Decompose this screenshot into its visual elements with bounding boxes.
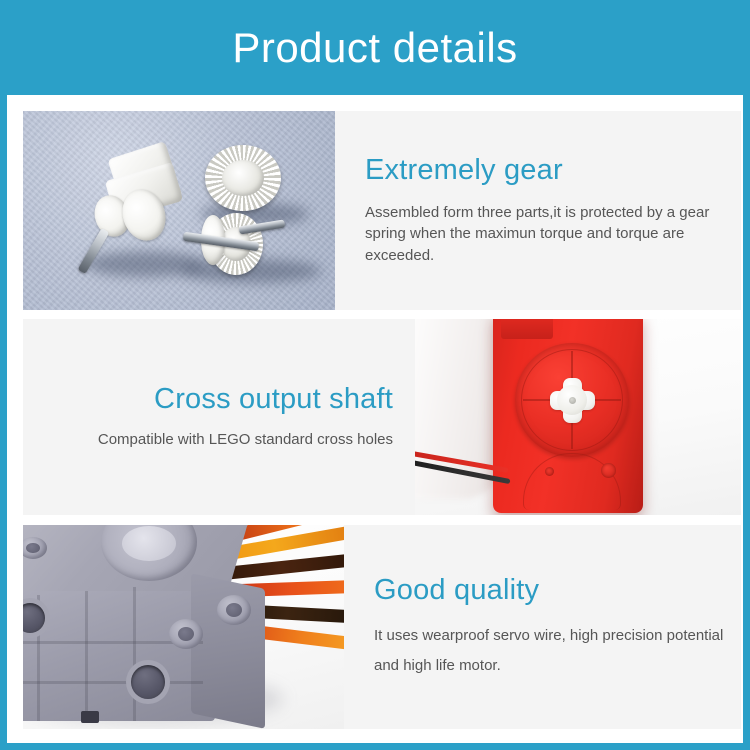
feature-description: It uses wearproof servo wire, high preci… xyxy=(374,621,727,680)
feature-blocks: Extremely gear Assembled form three part… xyxy=(14,102,750,750)
feature-block-extremely-gear: Extremely gear Assembled form three part… xyxy=(23,111,741,310)
product-details-page: Product details xyxy=(0,0,750,750)
feature-block-cross-output-shaft: Cross output shaft Compatible with LEGO … xyxy=(23,319,741,515)
feature-text-cross-output-shaft: Cross output shaft Compatible with LEGO … xyxy=(23,319,415,515)
grey-servo-image xyxy=(23,525,344,729)
gear-parts-image xyxy=(23,111,335,310)
page-title: Product details xyxy=(232,27,517,69)
feature-title: Good quality xyxy=(374,574,727,607)
feature-title: Cross output shaft xyxy=(154,383,393,416)
cross-horn-shape xyxy=(549,377,595,423)
feature-description: Assembled form three parts,it is protect… xyxy=(365,202,725,267)
feature-description: Compatible with LEGO standard cross hole… xyxy=(98,429,393,451)
feature-text-good-quality: Good quality It uses wearproof servo wir… xyxy=(344,525,741,729)
feature-title: Extremely gear xyxy=(365,154,727,187)
page-header: Product details xyxy=(0,0,750,95)
feature-block-good-quality: Good quality It uses wearproof servo wir… xyxy=(23,525,741,729)
red-servo-image xyxy=(415,319,741,515)
feature-text-extremely-gear: Extremely gear Assembled form three part… xyxy=(335,111,741,310)
